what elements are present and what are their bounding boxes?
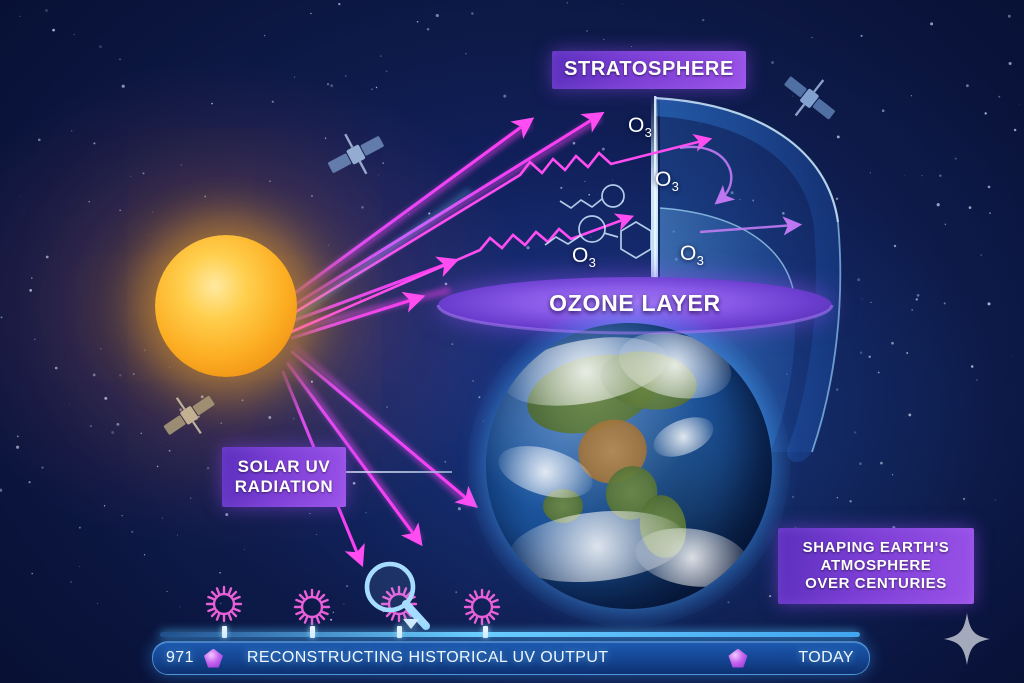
o3-label-1: O3	[628, 114, 652, 140]
timeline-track[interactable]	[160, 632, 860, 637]
gem-marker-icon	[728, 649, 747, 668]
stratosphere-label-text: STRATOSPHERE	[564, 58, 734, 82]
shaping-label-line1: SHAPING EARTH'S	[803, 539, 950, 557]
shaping-label-line3: OVER CENTURIES	[805, 575, 947, 593]
shaping-label-line2: ATMOSPHERE	[821, 557, 932, 575]
virus-particle-icon	[461, 586, 503, 628]
timeline-tick	[397, 626, 402, 638]
satellite-icon	[778, 72, 840, 124]
timeline-tick	[310, 626, 315, 638]
o3-label-2: O3	[655, 168, 679, 194]
satellite-icon	[160, 392, 218, 440]
sparkle-icon	[944, 613, 990, 665]
timeline-tick	[222, 626, 227, 638]
solar-uv-label-line1: SOLAR UV	[238, 457, 331, 477]
timeline-caption: RECONSTRUCTING HISTORICAL UV OUTPUT	[247, 649, 609, 667]
gem-marker-icon	[204, 649, 223, 668]
stratosphere-label: STRATOSPHERE	[552, 51, 746, 89]
timeline-playhead[interactable]	[403, 619, 419, 629]
solar-uv-label-line2: RADIATION	[235, 477, 334, 497]
magnifying-glass-icon[interactable]	[360, 559, 434, 633]
solar-uv-leader-line	[346, 471, 452, 473]
timeline-start-year: 971	[166, 649, 194, 667]
timeline-tick	[483, 626, 488, 638]
solar-uv-radiation-label: SOLAR UV RADIATION	[222, 447, 346, 507]
o3-label-4: O3	[680, 242, 704, 268]
infographic-canvas: OZONE LAYER O3 O3 O3 O3	[0, 0, 1024, 683]
timeline-end-label: TODAY	[798, 649, 854, 667]
virus-particle-icon	[203, 583, 245, 625]
satellite-icon	[325, 130, 385, 180]
shaping-atmosphere-label: SHAPING EARTH'S ATMOSPHERE OVER CENTURIE…	[778, 528, 974, 604]
o3-label-3: O3	[572, 244, 596, 270]
virus-particle-icon	[291, 586, 333, 628]
timeline-bar[interactable]: 971 RECONSTRUCTING HISTORICAL UV OUTPUT …	[152, 641, 870, 675]
